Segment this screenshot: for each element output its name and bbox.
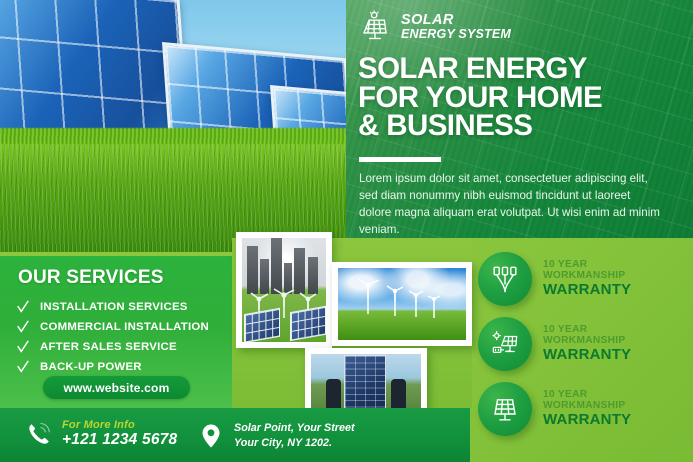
brand-line-2: ENERGY SYSTEM bbox=[401, 28, 511, 41]
warranty-text: 10 YEAR WORKMANSHIP WARRANTY bbox=[543, 259, 631, 299]
warranty-item-panel-array[interactable]: 10 YEAR WORKMANSHIP WARRANTY bbox=[478, 382, 631, 436]
solar-panel-logo-icon bbox=[358, 10, 392, 44]
check-icon bbox=[16, 340, 30, 354]
service-label: BACK-UP POWER bbox=[40, 361, 142, 373]
warranty-text: 10 YEAR WORKMANSHIP WARRANTY bbox=[543, 324, 631, 364]
warranty-line-1: 10 YEAR bbox=[543, 324, 631, 335]
solar-panel-sun-battery-icon bbox=[490, 329, 520, 359]
phone-icon bbox=[26, 421, 52, 447]
warranty-badge bbox=[478, 252, 532, 306]
brand-logo[interactable]: SOLAR ENERGY SYSTEM bbox=[358, 10, 511, 44]
service-label: INSTALLATION SERVICES bbox=[40, 301, 188, 313]
solar-panels-hero-photo bbox=[0, 0, 346, 252]
warranty-badge bbox=[478, 317, 532, 371]
services-title: OUR SERVICES bbox=[18, 267, 164, 289]
website-button[interactable]: www.website.com bbox=[43, 376, 190, 399]
headline-divider bbox=[359, 157, 441, 162]
headline-line-3: & BUSINESS bbox=[358, 112, 688, 141]
check-icon bbox=[16, 300, 30, 314]
address-line-1: Solar Point, Your Street bbox=[234, 421, 355, 436]
brand-line-1: SOLAR bbox=[401, 13, 511, 28]
warranty-line-2: WORKMANSHIP bbox=[543, 400, 631, 411]
wind-turbines-field-icons bbox=[338, 268, 466, 340]
warranty-line-2: WORKMANSHIP bbox=[543, 335, 631, 346]
map-pin-icon bbox=[198, 423, 224, 449]
headline-line-2: FOR YOUR HOME bbox=[358, 84, 688, 113]
warranty-line-2: WORKMANSHIP bbox=[543, 270, 631, 281]
warranty-badge bbox=[478, 382, 532, 436]
check-icon bbox=[16, 320, 30, 334]
warranty-line-3: WARRANTY bbox=[543, 347, 631, 364]
service-item-installation[interactable]: INSTALLATION SERVICES bbox=[16, 300, 209, 314]
address-line-2: Your City, NY 1202. bbox=[234, 436, 355, 451]
headline-line-1: SOLAR ENERGY bbox=[358, 55, 688, 84]
contact-bar: For More Info +121 1234 5678 Solar Point… bbox=[0, 408, 470, 462]
hero-body-text: Lorem ipsum dolor sit amet, consectetuer… bbox=[359, 170, 664, 238]
hero-headline: SOLAR ENERGY FOR YOUR HOME & BUSINESS bbox=[358, 55, 688, 141]
phone-number: +121 1234 5678 bbox=[62, 431, 177, 449]
address-text: Solar Point, Your Street Your City, NY 1… bbox=[234, 421, 355, 450]
warranty-list: 10 YEAR WORKMANSHIP WARRANTY bbox=[478, 252, 631, 447]
phone-label: For More Info bbox=[62, 419, 177, 431]
warranty-text: 10 YEAR WORKMANSHIP WARRANTY bbox=[543, 389, 631, 429]
panel-thumb-left bbox=[244, 308, 280, 342]
cables-wiring-icon bbox=[490, 264, 520, 294]
solar-panel-array-icon bbox=[490, 394, 520, 424]
check-icon bbox=[16, 360, 30, 374]
warranty-line-3: WARRANTY bbox=[543, 282, 631, 299]
warranty-item-cables[interactable]: 10 YEAR WORKMANSHIP WARRANTY bbox=[478, 252, 631, 306]
services-list: INSTALLATION SERVICES COMMERCIAL INSTALL… bbox=[16, 300, 209, 380]
hero-header: SOLAR ENERGY SYSTEM SOLAR ENERGY FOR YOU… bbox=[346, 0, 693, 238]
service-label: AFTER SALES SERVICE bbox=[40, 341, 177, 353]
warranty-line-3: WARRANTY bbox=[543, 412, 631, 429]
contact-address[interactable]: Solar Point, Your Street Your City, NY 1… bbox=[198, 421, 355, 450]
solar-energy-flyer: SOLAR ENERGY SYSTEM SOLAR ENERGY FOR YOU… bbox=[0, 0, 693, 462]
warranty-line-1: 10 YEAR bbox=[543, 259, 631, 270]
warranty-line-1: 10 YEAR bbox=[543, 389, 631, 400]
contact-phone[interactable]: For More Info +121 1234 5678 bbox=[26, 419, 177, 449]
city-wind-turbines-photo bbox=[236, 232, 332, 348]
wind-farm-field-photo bbox=[332, 262, 472, 346]
brand-wordmark: SOLAR ENERGY SYSTEM bbox=[401, 13, 511, 41]
service-item-backup-power[interactable]: BACK-UP POWER bbox=[16, 360, 209, 374]
warranty-item-panel-system[interactable]: 10 YEAR WORKMANSHIP WARRANTY bbox=[478, 317, 631, 371]
phone-text: For More Info +121 1234 5678 bbox=[62, 419, 177, 449]
service-item-commercial[interactable]: COMMERCIAL INSTALLATION bbox=[16, 320, 209, 334]
panel-thumb-right bbox=[290, 306, 326, 341]
service-item-after-sales[interactable]: AFTER SALES SERVICE bbox=[16, 340, 209, 354]
service-label: COMMERCIAL INSTALLATION bbox=[40, 321, 209, 333]
